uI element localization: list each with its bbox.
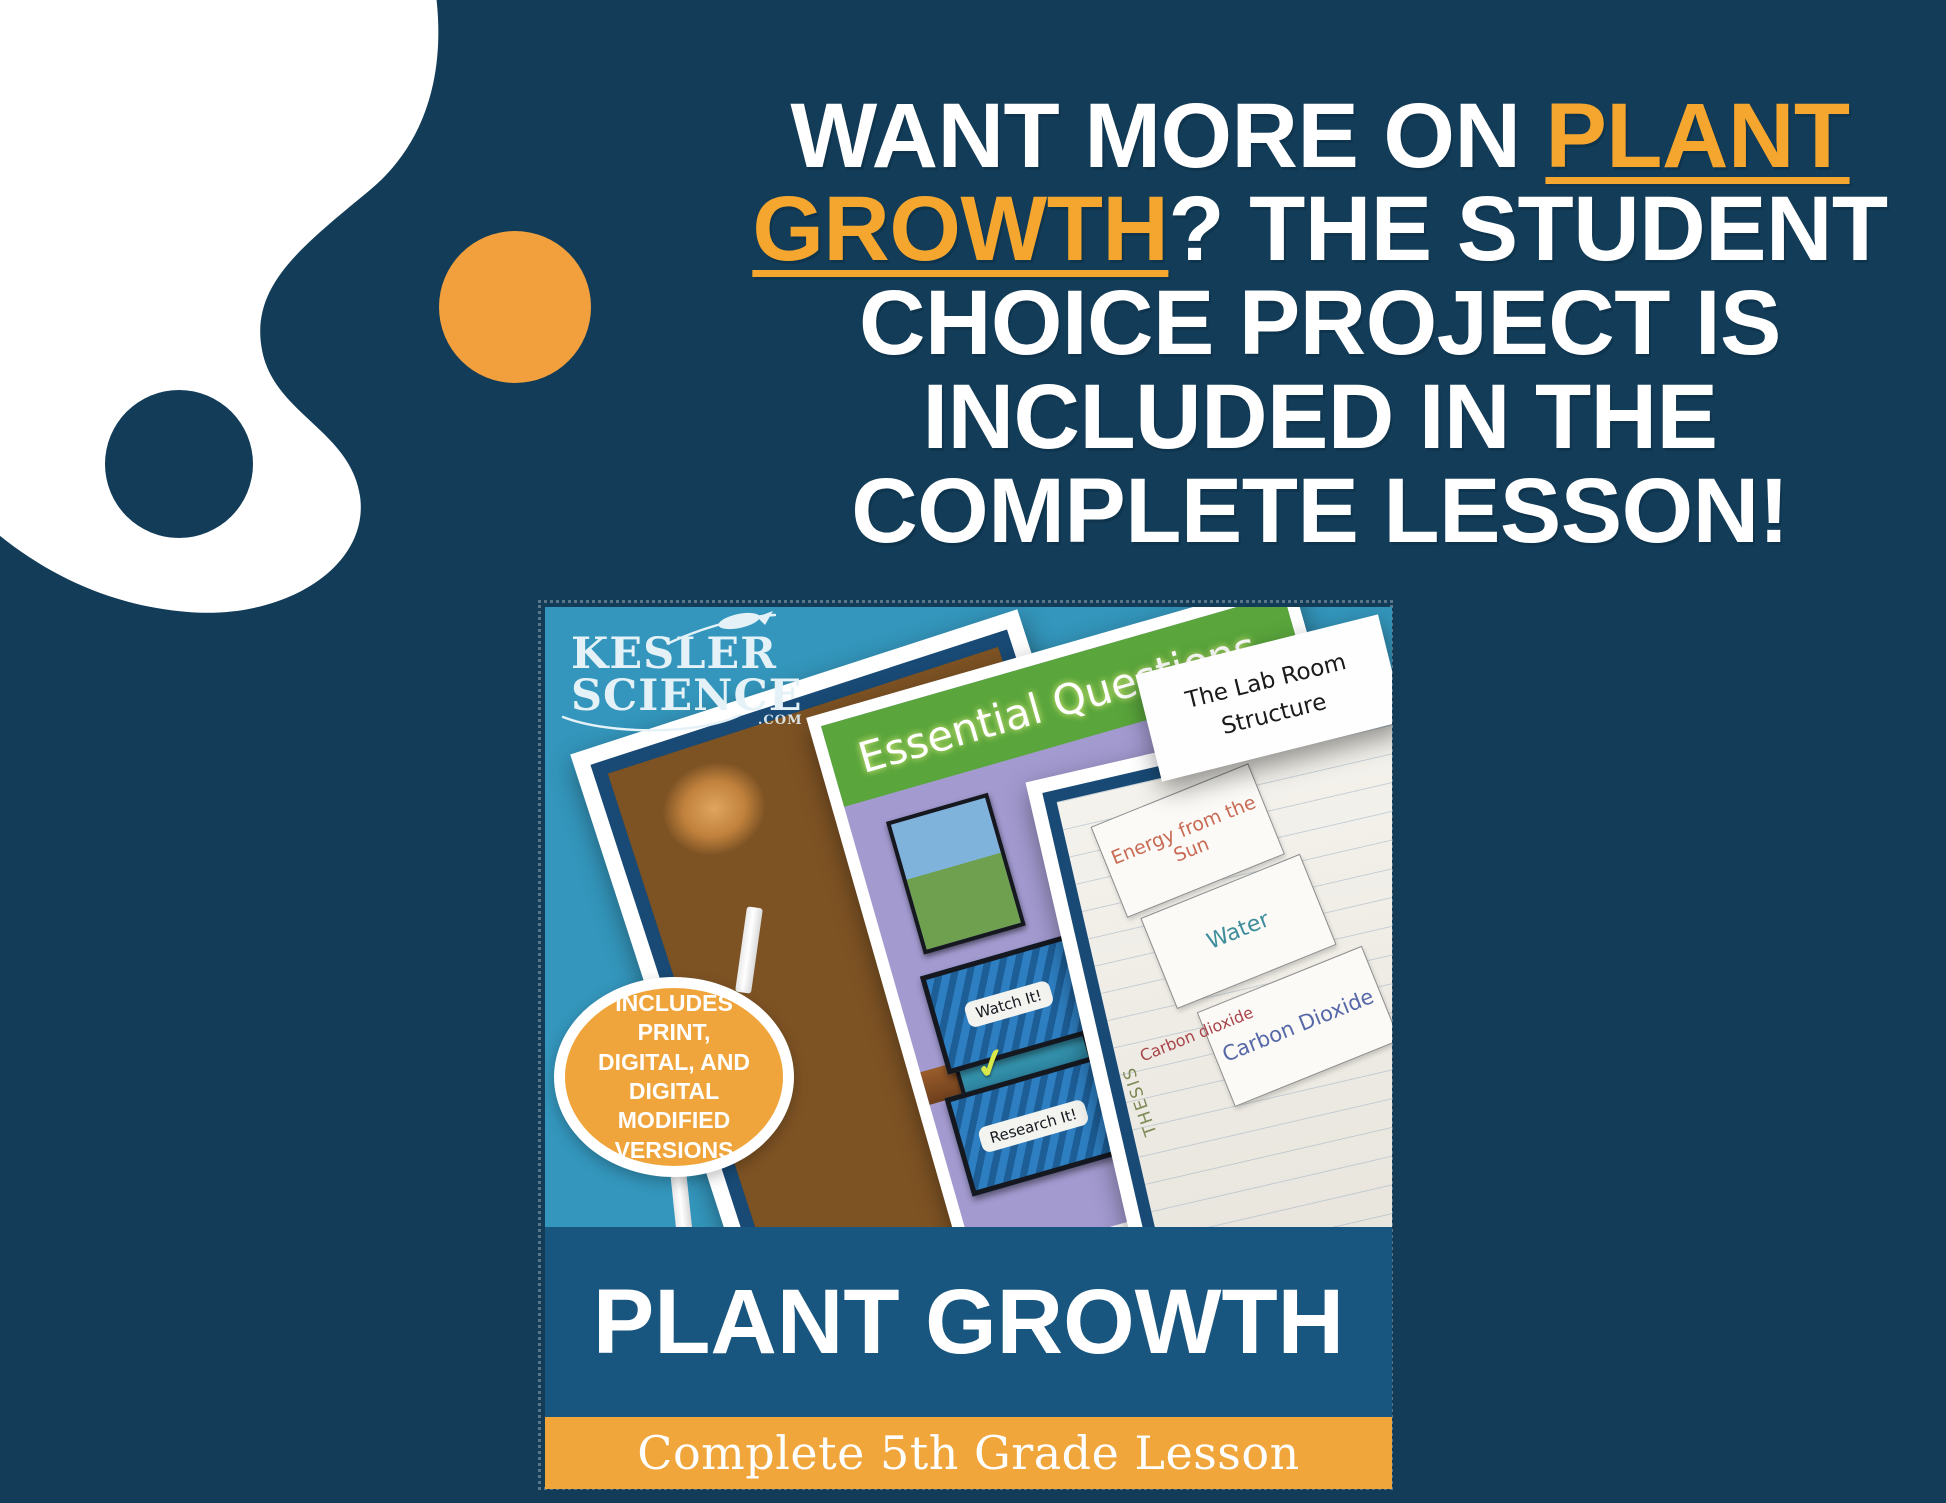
tile-label-research: Research It! (977, 1098, 1090, 1153)
underline-swoosh-icon (559, 711, 744, 737)
page-title: Want more on plant growth? The student c… (740, 90, 1900, 559)
cover-artwork-area: KESLER SCIENCE .COM (545, 607, 1392, 1227)
product-title: Plant Growth (593, 1270, 1344, 1375)
badge-text: INCLUDES PRINT, DIGITAL, AND DIGITAL MOD… (565, 989, 783, 1166)
badge-line-1: INCLUDES PRINT, (615, 990, 733, 1045)
card-inner: KESLER SCIENCE .COM (545, 607, 1392, 1489)
badge-line-4: VERSIONS (615, 1137, 734, 1163)
tile-label-watch: Watch It! (963, 980, 1055, 1029)
product-footer-band: Complete 5th Grade Lesson (545, 1417, 1392, 1489)
navy-circle-decor (105, 390, 253, 538)
headline-part-1: Want more on (790, 85, 1545, 187)
rocket-swoosh-icon (665, 609, 810, 649)
badge-line-3: DIGITAL MODIFIED (618, 1078, 730, 1133)
includes-badge: INCLUDES PRINT, DIGITAL, AND DIGITAL MOD… (554, 977, 794, 1177)
product-title-band: Plant Growth (545, 1227, 1392, 1417)
product-cover-card[interactable]: KESLER SCIENCE .COM (538, 600, 1393, 1490)
notebook-side-label: THESIS (1119, 1063, 1162, 1138)
orange-circle-decor (439, 231, 591, 383)
window-thumbnail-a (886, 793, 1026, 955)
product-subtitle: Complete 5th Grade Lesson (637, 1426, 1299, 1480)
badge-line-2: DIGITAL, AND (598, 1049, 750, 1075)
